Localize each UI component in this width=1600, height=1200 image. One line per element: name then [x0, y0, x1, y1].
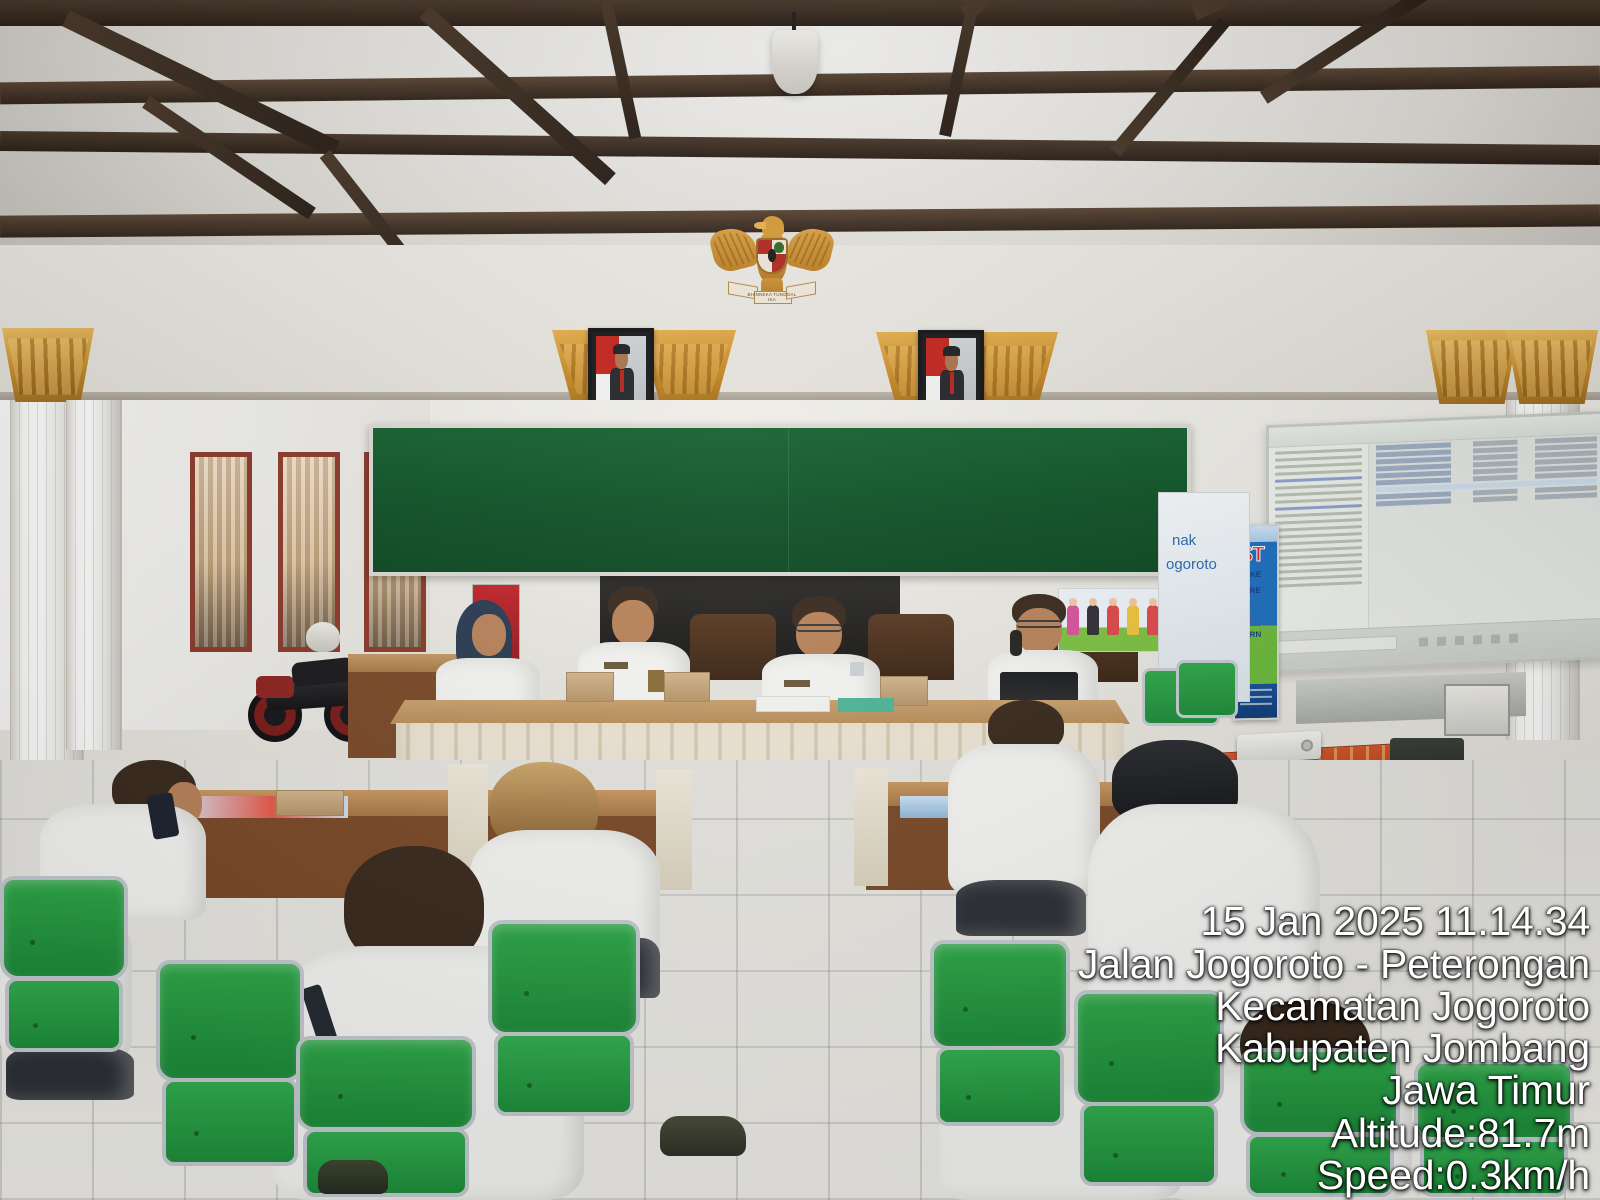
taskbar-search-box	[1277, 636, 1397, 655]
taskbar-icon	[1455, 636, 1464, 645]
white-shirt	[948, 744, 1100, 894]
mural-figure	[1127, 605, 1139, 635]
meeting-photograph: BHINNEKA TUNGGAL IKA	[0, 0, 1600, 1200]
window-left-1	[190, 452, 252, 652]
motorcycle-tank	[256, 676, 294, 698]
gps-datetime: 15 Jan 2025 11.14.34	[1078, 900, 1590, 942]
gps-street: Jalan Jogoroto - Peterongan	[1078, 943, 1590, 985]
trousers	[956, 880, 1086, 936]
face	[612, 600, 654, 646]
column-capital-left	[0, 328, 96, 402]
shoulder-patch	[850, 662, 864, 676]
face	[1016, 608, 1062, 654]
shoe	[318, 1160, 388, 1194]
official-1	[432, 600, 542, 712]
snack-box	[276, 790, 344, 816]
name-tag	[604, 662, 628, 669]
eyeglasses-icon	[796, 624, 842, 632]
taskbar-icon	[1509, 634, 1518, 643]
attendee-right-front	[948, 700, 1108, 930]
column-capital-right-2	[1504, 330, 1600, 404]
table-cloth-panel	[854, 768, 888, 886]
green-chair	[0, 876, 128, 1056]
microphone-icon	[1010, 630, 1022, 656]
garuda-beak-icon	[754, 222, 766, 229]
document-papers	[756, 696, 830, 712]
pancasila-shield-icon	[756, 238, 788, 274]
garuda-motto-text: BHINNEKA TUNGGAL IKA	[744, 292, 800, 302]
taskbar-icon	[1473, 635, 1482, 644]
shoe	[660, 1116, 746, 1156]
green-chair	[930, 940, 1070, 1130]
wooden-chair-back	[868, 614, 954, 680]
garuda-pancasila-emblem: BHINNEKA TUNGGAL IKA	[716, 212, 828, 330]
gps-stamp-overlay: 15 Jan 2025 11.14.34 Jalan Jogoroto - Pe…	[1078, 900, 1590, 1196]
gps-district: Kecamatan Jogoroto	[1078, 985, 1590, 1027]
eyeglasses-icon	[1016, 620, 1062, 628]
snack-box	[664, 672, 710, 702]
motorcycle-helmet	[306, 622, 340, 652]
face	[796, 612, 842, 658]
stacked-chairs-right-2	[1176, 660, 1238, 718]
gps-regency: Kabupaten Jombang	[1078, 1027, 1590, 1069]
column-left-2	[66, 400, 122, 750]
pendant-lamp	[772, 30, 818, 94]
green-folder	[838, 698, 894, 712]
name-tag	[784, 680, 810, 687]
roof-beam	[0, 0, 1600, 26]
mural-figure	[1107, 605, 1119, 635]
snack-box	[566, 672, 614, 702]
taskbar-icon	[1419, 637, 1428, 646]
projection-screen	[1266, 411, 1600, 673]
green-backdrop	[369, 424, 1191, 576]
white-banner-text-2: ogoroto	[1166, 556, 1217, 573]
taskbar-icon	[1437, 637, 1446, 646]
garuda-wing-left-icon	[708, 223, 761, 274]
gps-altitude: Altitude:81.7m	[1078, 1112, 1590, 1154]
taskbar-icon	[1491, 634, 1500, 643]
white-banner-text: nak	[1172, 532, 1196, 549]
id-card	[648, 670, 664, 692]
face	[472, 614, 506, 656]
green-chair	[156, 960, 304, 1170]
table-cloth-panel	[656, 770, 692, 890]
gps-speed: Speed:0.3km/h	[1078, 1154, 1590, 1196]
green-chair	[488, 920, 640, 1120]
gps-province: Jawa Timur	[1078, 1069, 1590, 1111]
chair-right-back	[1444, 684, 1510, 736]
column-capital-right	[1424, 330, 1520, 404]
